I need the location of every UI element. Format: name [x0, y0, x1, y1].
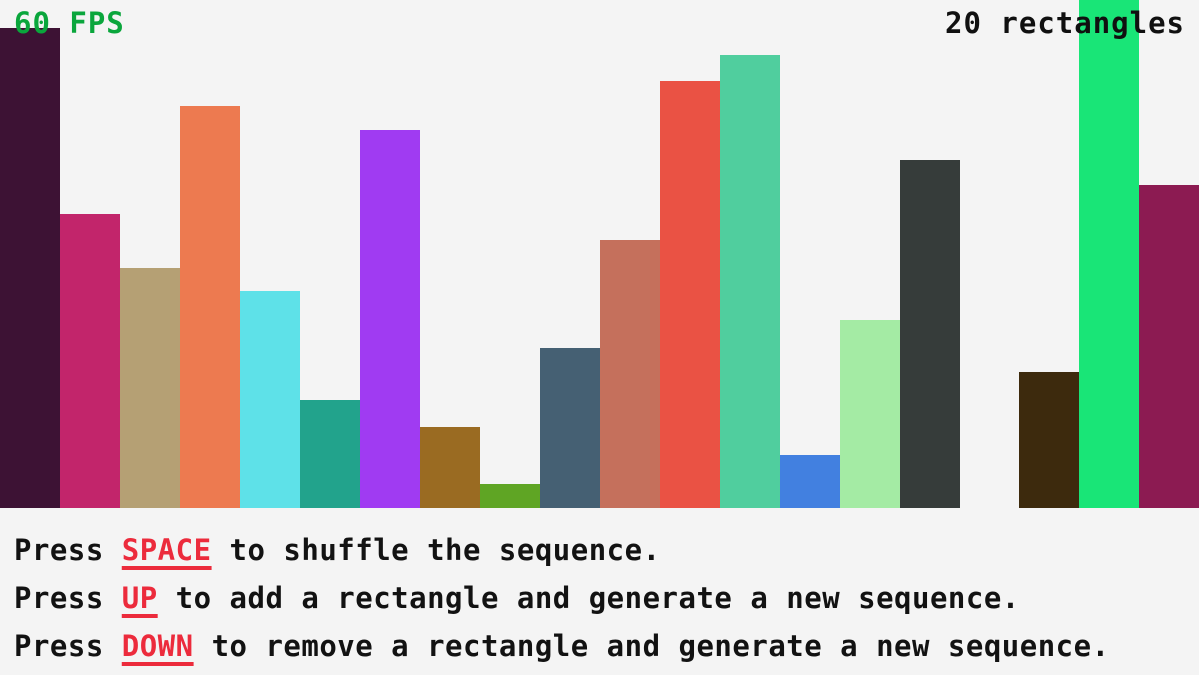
- bar-chart-canvas[interactable]: [0, 0, 1199, 512]
- instruction-line-1: Press SPACE to shuffle the sequence.: [14, 526, 1199, 574]
- bar-12: [660, 81, 720, 508]
- instructions-panel: Press SPACE to shuffle the sequence.Pres…: [0, 512, 1199, 675]
- instruction-line-2: Press UP to add a rectangle and generate…: [14, 574, 1199, 622]
- bar-19: [1079, 0, 1139, 508]
- bar-3: [120, 268, 180, 508]
- bar-6: [300, 400, 360, 508]
- instruction-prefix: Press: [14, 533, 122, 567]
- instruction-suffix: to remove a rectangle and generate a new…: [194, 629, 1110, 663]
- bar-4: [180, 106, 240, 508]
- bar-16: [900, 160, 960, 508]
- instruction-suffix: to shuffle the sequence.: [212, 533, 661, 567]
- rectangle-count-label: 20 rectangles: [945, 8, 1185, 38]
- bar-13: [720, 55, 780, 508]
- bar-11: [600, 240, 660, 508]
- bar-7: [360, 130, 420, 508]
- bar-5: [240, 291, 300, 508]
- bar-14: [780, 455, 840, 508]
- key-badge-space[interactable]: SPACE: [122, 533, 212, 567]
- app-root: 60 FPS 20 rectangles Press SPACE to shuf…: [0, 0, 1199, 675]
- bar-10: [540, 348, 600, 508]
- instruction-prefix: Press: [14, 581, 122, 615]
- bar-2: [60, 214, 120, 508]
- bar-8: [420, 427, 480, 508]
- bar-9: [480, 484, 540, 508]
- bar-15: [840, 320, 900, 508]
- instruction-line-3: Press DOWN to remove a rectangle and gen…: [14, 622, 1199, 670]
- instruction-prefix: Press: [14, 629, 122, 663]
- key-badge-down[interactable]: DOWN: [122, 629, 194, 663]
- bar-18: [1019, 372, 1079, 508]
- instruction-suffix: to add a rectangle and generate a new se…: [158, 581, 1020, 615]
- fps-counter: 60 FPS: [14, 8, 125, 38]
- key-badge-up[interactable]: UP: [122, 581, 158, 615]
- bar-1: [0, 28, 60, 508]
- bar-20: [1139, 185, 1199, 508]
